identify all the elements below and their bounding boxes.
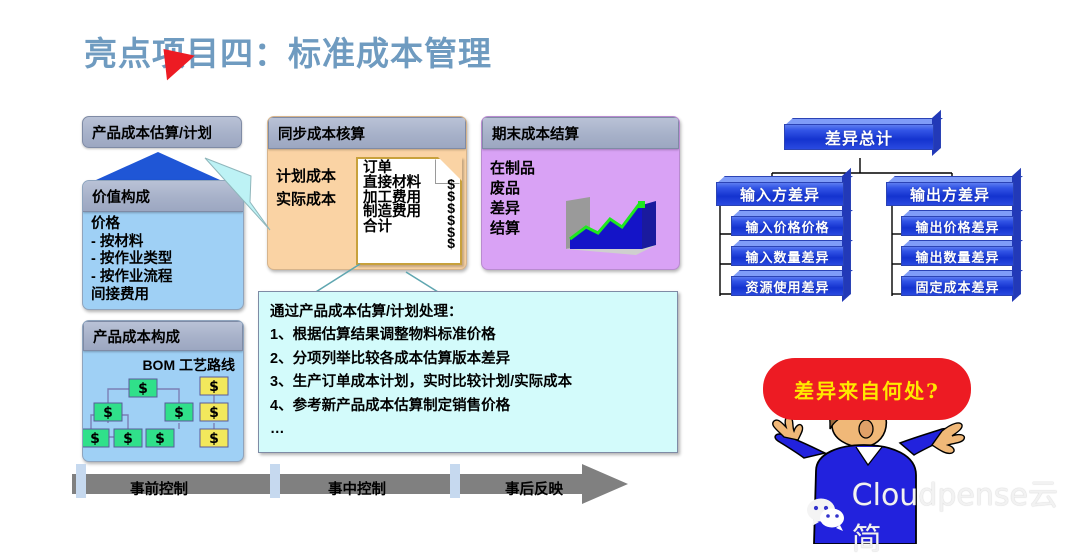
svg-text:$: $ [209,405,219,421]
desc-line-3: 3、生产订单成本计划，实时比较计划/实际成本 [270,371,677,394]
order-document-lines: 订单 直接材料 加工费用 制造费用 合计 [363,161,421,235]
svg-text:$: $ [209,431,219,447]
svg-text:$: $ [174,405,184,421]
value-line-4: 间接费用 [91,287,243,305]
desc-line-2: 2、分项列举比较各成本估算版本差异 [270,348,677,371]
page-title: 亮点项目四：标准成本管理 [84,27,492,75]
tree-node-input-qty-variance-label: 输入数量差异 [731,246,844,266]
panel-product-cost-structure-header: 产品成本构成 [83,321,243,351]
callout-arrow-to-estimate [150,140,330,270]
svg-text:$: $ [138,381,148,397]
tree-node-fixed-cost-variance-label: 固定成本差异 [901,276,1014,296]
timeline-phase-1: 事中控制 [328,478,386,499]
tree-node-output-price-variance-label: 输出价格差异 [901,216,1014,236]
desc-line-0: 通过产品成本估算/计划处理： [270,301,677,324]
order-document-icon: 订单 直接材料 加工费用 制造费用 合计 $$$$$$ [356,157,462,265]
tree-node-input-price-variance-label: 输入价格价格 [731,216,844,236]
svg-text:$: $ [155,431,165,447]
timeline-phase-0: 事前控制 [130,478,188,499]
tree-node-output-price-variance: 输出价格差异 [901,210,1014,242]
svg-text:$: $ [209,379,219,395]
value-line-3: ‑ 按作业流程 [91,269,243,287]
svg-text:$: $ [103,405,113,421]
desc-line-4: 4、参考新产品成本估算制定销售价格 [270,395,677,418]
doc-line-1: 直接材料 [363,176,421,191]
panel-period-end-settlement-header: 期末成本结算 [482,117,679,149]
svg-text:$: $ [90,431,100,447]
tree-node-output-variance-label: 输出方差异 [886,182,1014,206]
tree-node-input-variance-label: 输入方差异 [716,182,844,206]
doc-line-4: 合计 [363,220,421,235]
speech-bubble-text: 差异来自何处? [763,358,971,420]
area-chart-icon [560,193,665,261]
tree-node-root-label: 差异总计 [784,124,934,150]
dollar-symbols-icon: $$$$$$ [447,179,454,250]
tree-node-root: 差异总计 [784,118,934,156]
speech-bubble-tail [157,49,195,85]
doc-line-0: 订单 [363,161,421,176]
tree-node-output-variance: 输出方差异 [886,176,1014,212]
tree-node-resource-usage-variance: 资源使用差异 [731,270,844,302]
bom-tree-diagram: $ $ $ $ $ $ $ $ $ [83,351,243,461]
tree-node-input-price-variance: 输入价格价格 [731,210,844,242]
period-line-3: 结算 [490,219,535,239]
tree-node-output-qty-variance: 输出数量差异 [901,240,1014,272]
period-item-list: 在制品 废品 差异 结算 [490,159,535,239]
desc-line-1: 1、根据估算结果调整物料标准价格 [270,324,677,347]
tree-node-fixed-cost-variance: 固定成本差异 [901,270,1014,302]
period-line-1: 废品 [490,179,535,199]
period-line-2: 差异 [490,199,535,219]
timeline-phase-2: 事后反映 [505,478,563,499]
panel-description: 通过产品成本估算/计划处理： 1、根据估算结果调整物料标准价格 2、分项列举比较… [258,291,678,453]
panel-product-cost-structure: 产品成本构成 BOM 工艺路线 [82,320,244,462]
speech-bubble: 差异来自何处? [763,358,971,420]
desc-line-5: … [270,418,677,441]
period-line-0: 在制品 [490,159,535,179]
tree-node-resource-usage-variance-label: 资源使用差异 [731,276,844,296]
svg-text:$: $ [123,431,133,447]
doc-line-3: 制造费用 [363,205,421,220]
tree-node-input-variance: 输入方差异 [716,176,844,212]
panel-period-end-settlement: 期末成本结算 在制品 废品 差异 结算 [481,116,680,270]
tree-node-input-qty-variance: 输入数量差异 [731,240,844,272]
tree-node-output-qty-variance-label: 输出数量差异 [901,246,1014,266]
slide-canvas: 亮点项目四：标准成本管理 产品成本估算/计划 价值构成 价格 ‑ 按材料 ‑ 按… [0,0,1080,544]
